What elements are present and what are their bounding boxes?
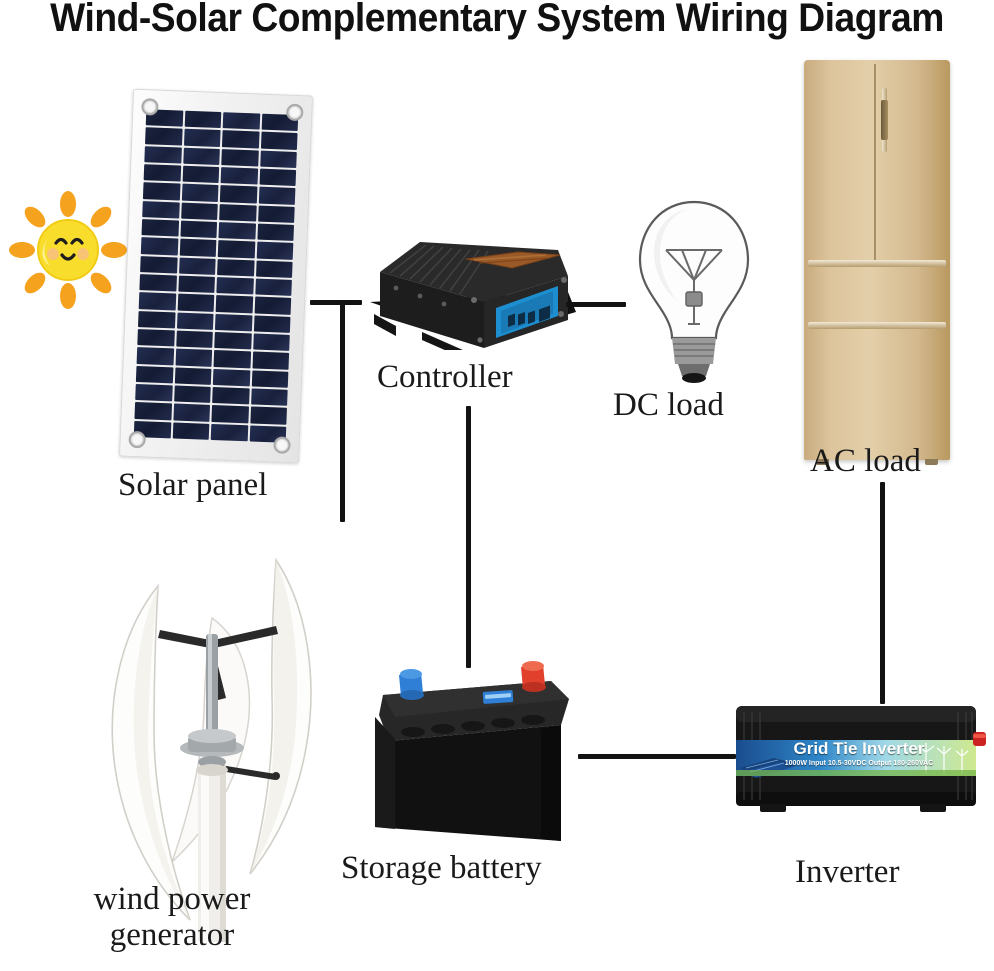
wire-inverter-to-ac-load [880,482,885,704]
grid-tie-inverter-icon: Grid Tie Inverter 1000W Input 10.5-30VDC… [730,696,988,818]
vertical-wind-turbine-icon [62,522,362,942]
label-solar-panel: Solar panel [118,468,267,504]
wire-controller-to-storage-battery [466,406,471,668]
wire-solar-panel-down [340,300,345,522]
fridge-door-seam [874,64,876,262]
label-storage-battery: Storage battery [341,851,542,887]
fridge-drawer-trim-lower [808,322,946,329]
page-title: Wind-Solar Complementary System Wiring D… [35,0,959,41]
wiring-diagram-canvas: Wind-Solar Complementary System Wiring D… [0,0,994,971]
fridge-drawer-trim-upper [808,260,946,267]
label-dc-load: DC load [613,388,724,424]
label-ac-load: AC load [810,444,921,480]
wire-solar-panel-to-junction [310,300,362,305]
wire-storage-battery-to-inverter [578,754,736,759]
solar-panel-cell-grid [134,109,298,443]
wire-controller-to-dc-load [566,302,626,307]
car-battery-icon [365,655,577,845]
solar-panel-icon [119,89,313,464]
label-wind-power-generator-line2: generator [40,918,304,954]
fridge-foot-right [925,459,938,465]
refrigerator-icon [804,60,950,460]
label-controller: Controller [377,360,513,396]
sun-icon [8,190,128,310]
charge-controller-icon [362,228,578,350]
inverter-brand-text: Grid Tie Inverter [730,739,988,759]
fridge-display-panel [881,100,888,140]
label-wind-power-generator-line1: wind power [40,882,304,918]
light-bulb-icon [620,196,768,386]
inverter-specs-text: 1000W Input 10.5-30VDC Output 180-260VAC [730,760,988,767]
label-wind-power-generator: wind power generator [40,882,304,953]
label-inverter: Inverter [795,855,899,891]
